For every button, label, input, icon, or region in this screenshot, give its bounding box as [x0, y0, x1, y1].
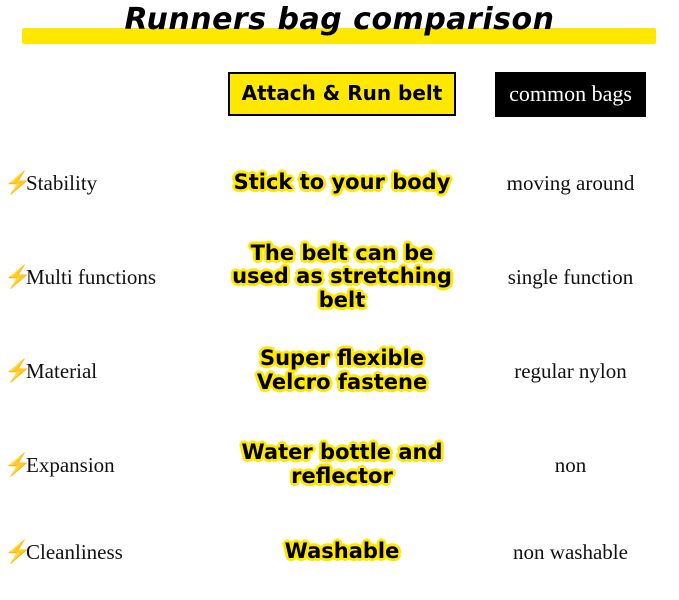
row-label-multi-functions: Multi functions	[26, 265, 156, 290]
cell-text: Washable	[285, 540, 400, 564]
table-row: ⚡ Material Super flexible Velcro fastene…	[0, 324, 679, 418]
cell-attach-run-belt-cleanliness: Washable	[222, 540, 462, 564]
row-label-cell-expansion: ⚡ Expansion	[0, 453, 222, 478]
table-row: ⚡ Multi functions The belt can be used a…	[0, 230, 679, 324]
cell-text: non	[555, 453, 587, 477]
cell-text: regular nylon	[514, 359, 627, 383]
cell-text: single function	[508, 265, 633, 289]
cell-attach-run-belt-stability: Stick to your body	[222, 171, 462, 195]
table-row: ⚡ Stability Stick to your body moving ar…	[0, 136, 679, 230]
cell-common-bags-expansion: non	[462, 453, 679, 477]
bolt-icon: ⚡	[4, 541, 22, 563]
cell-text: Stick to your body	[234, 171, 451, 195]
comparison-table: Attach & Run belt common bags ⚡ Stabilit…	[0, 58, 679, 592]
cell-common-bags-cleanliness: non washable	[462, 540, 679, 564]
row-label-cell-multi-functions: ⚡ Multi functions	[0, 265, 222, 290]
header-cell-common-bags: common bags	[462, 58, 679, 117]
header-label-common-bags: common bags	[495, 72, 646, 117]
cell-text: Super flexible Velcro fastene	[222, 347, 462, 394]
cell-text: The belt can be used as stretching belt	[222, 242, 462, 313]
table-header-row: Attach & Run belt common bags	[0, 58, 679, 136]
cell-text: non washable	[513, 540, 628, 564]
page-title: Runners bag comparison	[0, 2, 679, 37]
bolt-icon: ⚡	[4, 266, 22, 288]
cell-attach-run-belt-expansion: Water bottle and reflector	[222, 441, 462, 488]
table-row: ⚡ Cleanliness Washable non washable	[0, 512, 679, 592]
table-row: ⚡ Expansion Water bottle and reflector n…	[0, 418, 679, 512]
row-label-cleanliness: Cleanliness	[26, 540, 123, 565]
row-label-material: Material	[26, 359, 97, 384]
cell-text: moving around	[507, 171, 635, 195]
row-label-expansion: Expansion	[26, 453, 115, 478]
cell-text: Water bottle and reflector	[222, 441, 462, 488]
header-cell-attach-run-belt: Attach & Run belt	[222, 58, 462, 116]
header-label-attach-run-belt: Attach & Run belt	[228, 72, 457, 116]
cell-common-bags-multi-functions: single function	[462, 265, 679, 289]
bolt-icon: ⚡	[4, 360, 22, 382]
bolt-icon: ⚡	[4, 172, 22, 194]
cell-common-bags-material: regular nylon	[462, 359, 679, 383]
cell-attach-run-belt-material: Super flexible Velcro fastene	[222, 347, 462, 394]
row-label-stability: Stability	[26, 171, 97, 196]
row-label-cell-material: ⚡ Material	[0, 359, 222, 384]
page-title-block: Runners bag comparison	[0, 0, 679, 58]
row-label-cell-stability: ⚡ Stability	[0, 171, 222, 196]
row-label-cell-cleanliness: ⚡ Cleanliness	[0, 540, 222, 565]
cell-common-bags-stability: moving around	[462, 171, 679, 195]
cell-attach-run-belt-multi-functions: The belt can be used as stretching belt	[222, 242, 462, 313]
bolt-icon: ⚡	[4, 454, 22, 476]
